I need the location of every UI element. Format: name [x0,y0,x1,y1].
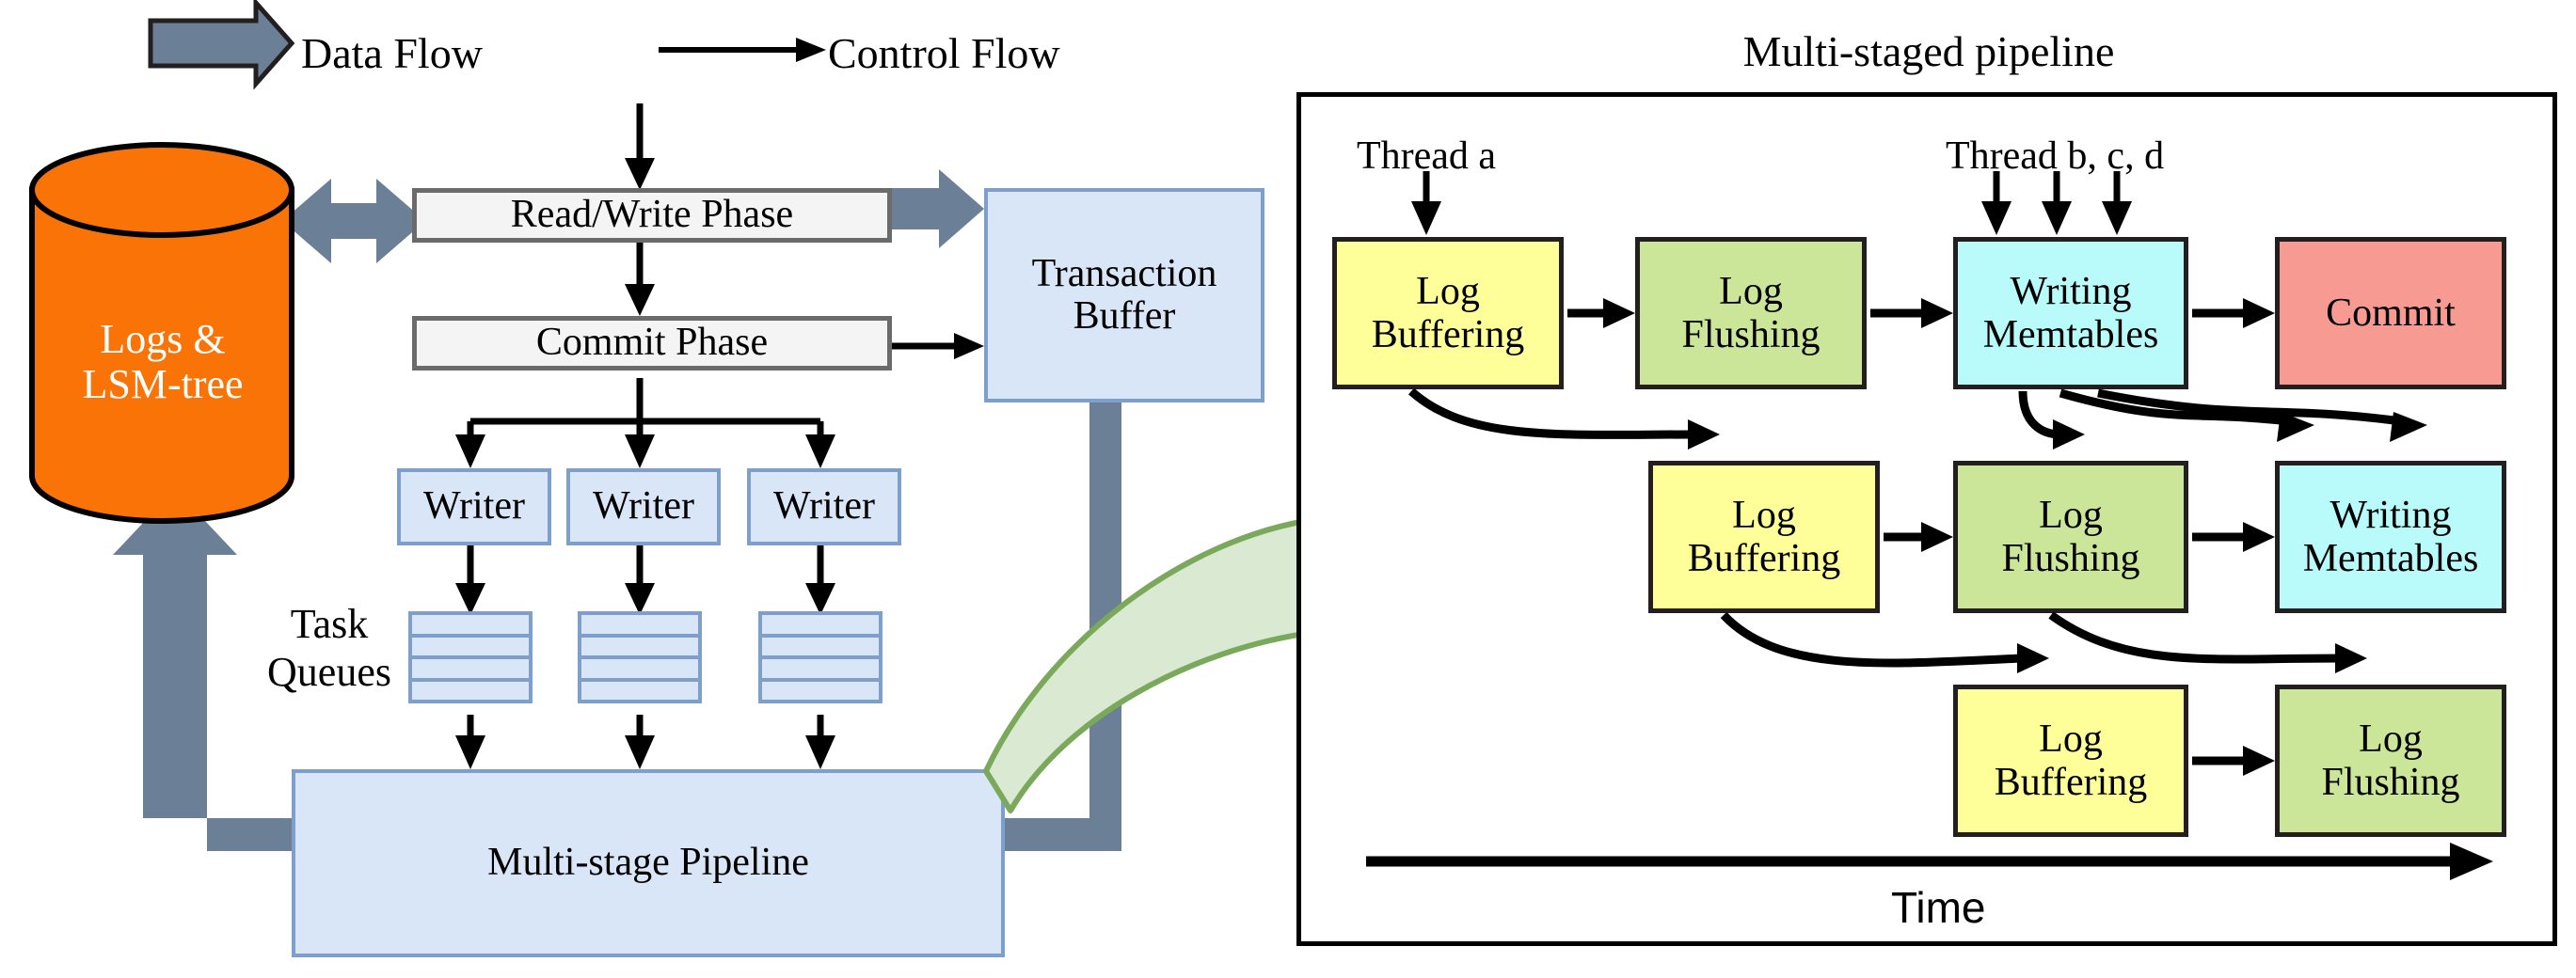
stage-label-line1: Log [2039,494,2103,537]
stage-row1-writing-memtables[interactable]: Writing Memtables [1953,237,2188,389]
stage-label-line2: Memtables [1983,313,2159,356]
stage-row2-log-buffering[interactable]: Log Buffering [1648,461,1880,613]
task-queue-cell [578,678,702,704]
transaction-buffer-label-line1: Transaction [1032,253,1217,295]
task-queues-label-line1: Task [291,601,368,649]
task-queue-cell [758,678,883,704]
writer-box-1[interactable]: Writer [397,468,551,545]
stage-label-line1: Log [2359,718,2423,761]
storage-label-line1: Logs & [100,317,225,362]
stage-label-line2: Buffering [1688,537,1841,580]
time-axis-label: Time [1891,882,1986,933]
storage-label-line2: LSM-tree [82,362,243,407]
thick-arrow-right-icon [151,3,292,84]
stage-label-line2: Flushing [1681,313,1820,356]
multi-stage-pipeline-label: Multi-stage Pipeline [487,842,809,884]
task-queues-label: Task Queues [254,592,405,705]
stage-label-line1: Writing [2011,270,2132,313]
pipeline-title: Multi-staged pipeline [1599,26,2258,76]
stage-row1-log-buffering[interactable]: Log Buffering [1332,237,1564,389]
stage-label-line2: Flushing [2321,761,2459,804]
stage-label-line2: Memtables [2303,537,2479,580]
writer-label: Writer [423,485,525,528]
stage-label-line1: Log [1416,270,1480,313]
task-queue-cell [408,678,533,704]
thread-a-label: Thread a [1357,134,1496,179]
stage-label-line1: Commit [2326,292,2456,335]
stage-label-line2: Flushing [2001,537,2139,580]
stage-row1-log-flushing[interactable]: Log Flushing [1635,237,1867,389]
legend-control-flow-label: Control Flow [828,28,1060,78]
read-write-phase-label: Read/Write Phase [511,194,793,236]
thin-arrow-right-icon [659,38,826,62]
transaction-buffer-box[interactable]: Transaction Buffer [984,188,1264,402]
thread-bcd-label: Thread b, c, d [1946,134,2164,179]
writer-label: Writer [593,485,694,528]
stage-label-line1: Log [1719,270,1783,313]
multi-stage-pipeline-box[interactable]: Multi-stage Pipeline [292,769,1005,957]
stage-row1-commit[interactable]: Commit [2275,237,2506,389]
transaction-buffer-label-line2: Buffer [1073,295,1176,338]
task-queues-label-line2: Queues [267,649,391,697]
stage-label-line1: Writing [2330,494,2452,537]
stage-row2-writing-memtables[interactable]: Writing Memtables [2275,461,2506,613]
commit-phase-box[interactable]: Commit Phase [412,316,892,371]
stage-row3-log-buffering[interactable]: Log Buffering [1953,685,2188,837]
writer-box-3[interactable]: Writer [747,468,901,545]
stage-label-line2: Buffering [1995,761,2148,804]
commit-phase-label: Commit Phase [536,322,768,364]
stage-row3-log-flushing[interactable]: Log Flushing [2275,685,2506,837]
task-queue-3[interactable] [758,611,883,715]
task-queue-1[interactable] [408,611,533,715]
bidirectional-arrow-icon [282,179,425,263]
stage-row2-log-flushing[interactable]: Log Flushing [1953,461,2188,613]
writer-label: Writer [773,485,875,528]
dataflow-pipe-buffer-to-pipeline [997,395,1121,851]
task-queue-2[interactable] [578,611,702,715]
read-write-phase-box[interactable]: Read/Write Phase [412,188,892,243]
stage-label-line1: Log [1732,494,1796,537]
legend-data-flow-label: Data Flow [301,28,483,78]
storage-label: Logs & LSM-tree [26,301,299,423]
stage-label-line1: Log [2039,718,2103,761]
writer-box-2[interactable]: Writer [566,468,721,545]
stage-label-line2: Buffering [1372,313,1525,356]
dataflow-arrow-to-buffer-icon [884,169,984,248]
